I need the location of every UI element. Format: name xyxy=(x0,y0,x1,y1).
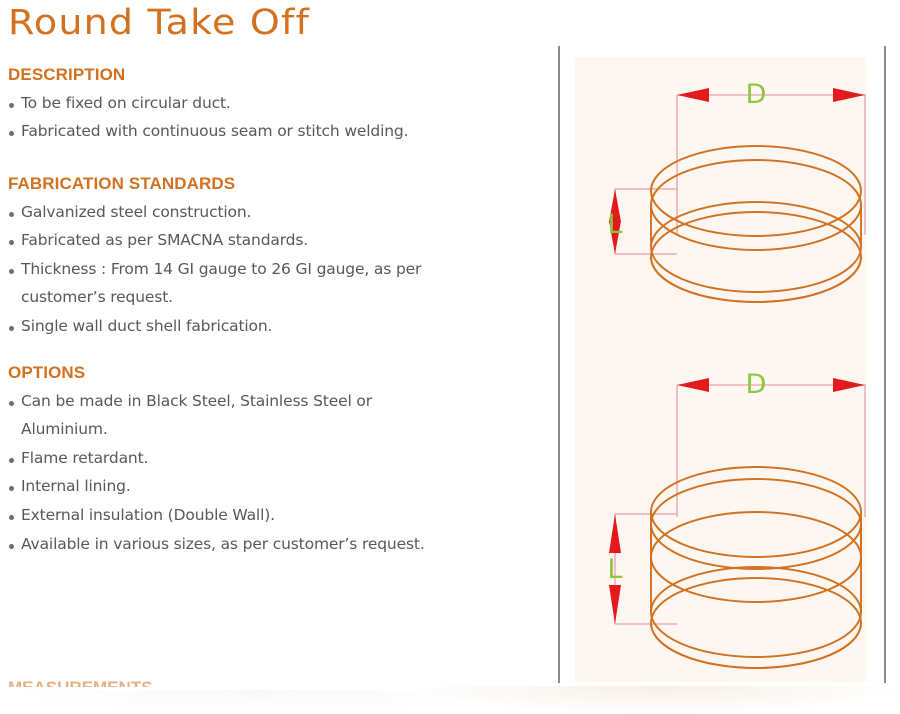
list-item: Flame retardant. xyxy=(8,445,538,473)
list-item-text: Single wall duct shell fabrication. xyxy=(21,317,272,335)
list-item-text: Fabricated as per SMACNA standards. xyxy=(21,231,308,249)
list-item: Can be made in Black Steel, Stainless St… xyxy=(8,388,538,416)
page-title: Round Take Off xyxy=(8,2,310,42)
dimension-label-length: L xyxy=(607,209,622,240)
arrow-left-icon xyxy=(677,378,709,392)
list-item: Single wall duct shell fabrication. xyxy=(8,313,538,341)
list-item-text: Can be made in Black Steel, Stainless St… xyxy=(21,392,372,410)
arrow-right-icon xyxy=(833,88,865,102)
list-item-continuation: Aluminium. xyxy=(8,416,538,444)
panel-divider-right xyxy=(884,46,886,683)
list-item: Fabricated with continuous seam or stitc… xyxy=(8,118,538,146)
dimension-label-diameter: D xyxy=(746,79,767,110)
list-item-text: External insulation (Double Wall). xyxy=(21,506,275,524)
dimension-label-length: L xyxy=(607,554,622,585)
list-item-text: Galvanized steel construction. xyxy=(21,203,251,221)
arrow-up-icon xyxy=(609,514,621,553)
bullet-list-description: To be fixed on circular duct. Fabricated… xyxy=(8,90,538,146)
dimension-label-diameter: D xyxy=(746,369,767,400)
list-item-text: customer’s request. xyxy=(21,288,173,306)
panel-divider-left xyxy=(558,46,560,683)
section-heading-options: OPTIONS xyxy=(8,364,538,383)
list-item: Available in various sizes, as per custo… xyxy=(8,531,538,559)
list-item: External insulation (Double Wall). xyxy=(8,502,538,530)
list-item: Internal lining. xyxy=(8,473,538,501)
list-item-text: Aluminium. xyxy=(21,420,108,438)
diagram-panel: D L xyxy=(575,57,866,682)
list-item: Fabricated as per SMACNA standards. xyxy=(8,227,538,255)
dimension-lines-figure-2 xyxy=(609,378,866,624)
cylinder-figure-2 xyxy=(651,467,861,668)
diagram-round-take-off-tall: D L xyxy=(575,357,866,682)
section-heading-measurements-cutoff: MEASUREMENTS xyxy=(8,678,153,687)
section-options: OPTIONS Can be made in Black Steel, Stai… xyxy=(8,364,538,559)
list-item-text: Fabricated with continuous seam or stitc… xyxy=(21,122,408,140)
list-item-text: Thickness : From 14 GI gauge to 26 GI ga… xyxy=(21,260,421,278)
section-heading-description: DESCRIPTION xyxy=(8,66,538,85)
bullet-list-options: Can be made in Black Steel, Stainless St… xyxy=(8,388,538,558)
list-item-text: Internal lining. xyxy=(21,477,131,495)
section-fabrication-standards: FABRICATION STANDARDS Galvanized steel c… xyxy=(8,175,538,342)
product-datasheet-page: Round Take Off DESCRIPTION To be fixed o… xyxy=(0,0,900,714)
text-column: Round Take Off DESCRIPTION To be fixed o… xyxy=(0,0,545,714)
list-item-text: To be fixed on circular duct. xyxy=(21,94,231,112)
bullet-list-fabrication-standards: Galvanized steel construction. Fabricate… xyxy=(8,199,538,341)
section-description: DESCRIPTION To be fixed on circular duct… xyxy=(8,66,538,147)
diagram-round-take-off-short: D L xyxy=(575,57,866,357)
list-item: To be fixed on circular duct. xyxy=(8,90,538,118)
list-item: Galvanized steel construction. xyxy=(8,199,538,227)
arrow-down-icon xyxy=(609,585,621,624)
cylinder-figure-1 xyxy=(651,146,861,302)
list-item-text: Available in various sizes, as per custo… xyxy=(21,535,425,553)
arrow-right-icon xyxy=(833,378,865,392)
list-item: Thickness : From 14 GI gauge to 26 GI ga… xyxy=(8,256,538,284)
list-item-continuation: customer’s request. xyxy=(8,284,538,312)
arrow-left-icon xyxy=(677,88,709,102)
section-heading-fabrication-standards: FABRICATION STANDARDS xyxy=(8,175,538,194)
list-item-text: Flame retardant. xyxy=(21,449,148,467)
